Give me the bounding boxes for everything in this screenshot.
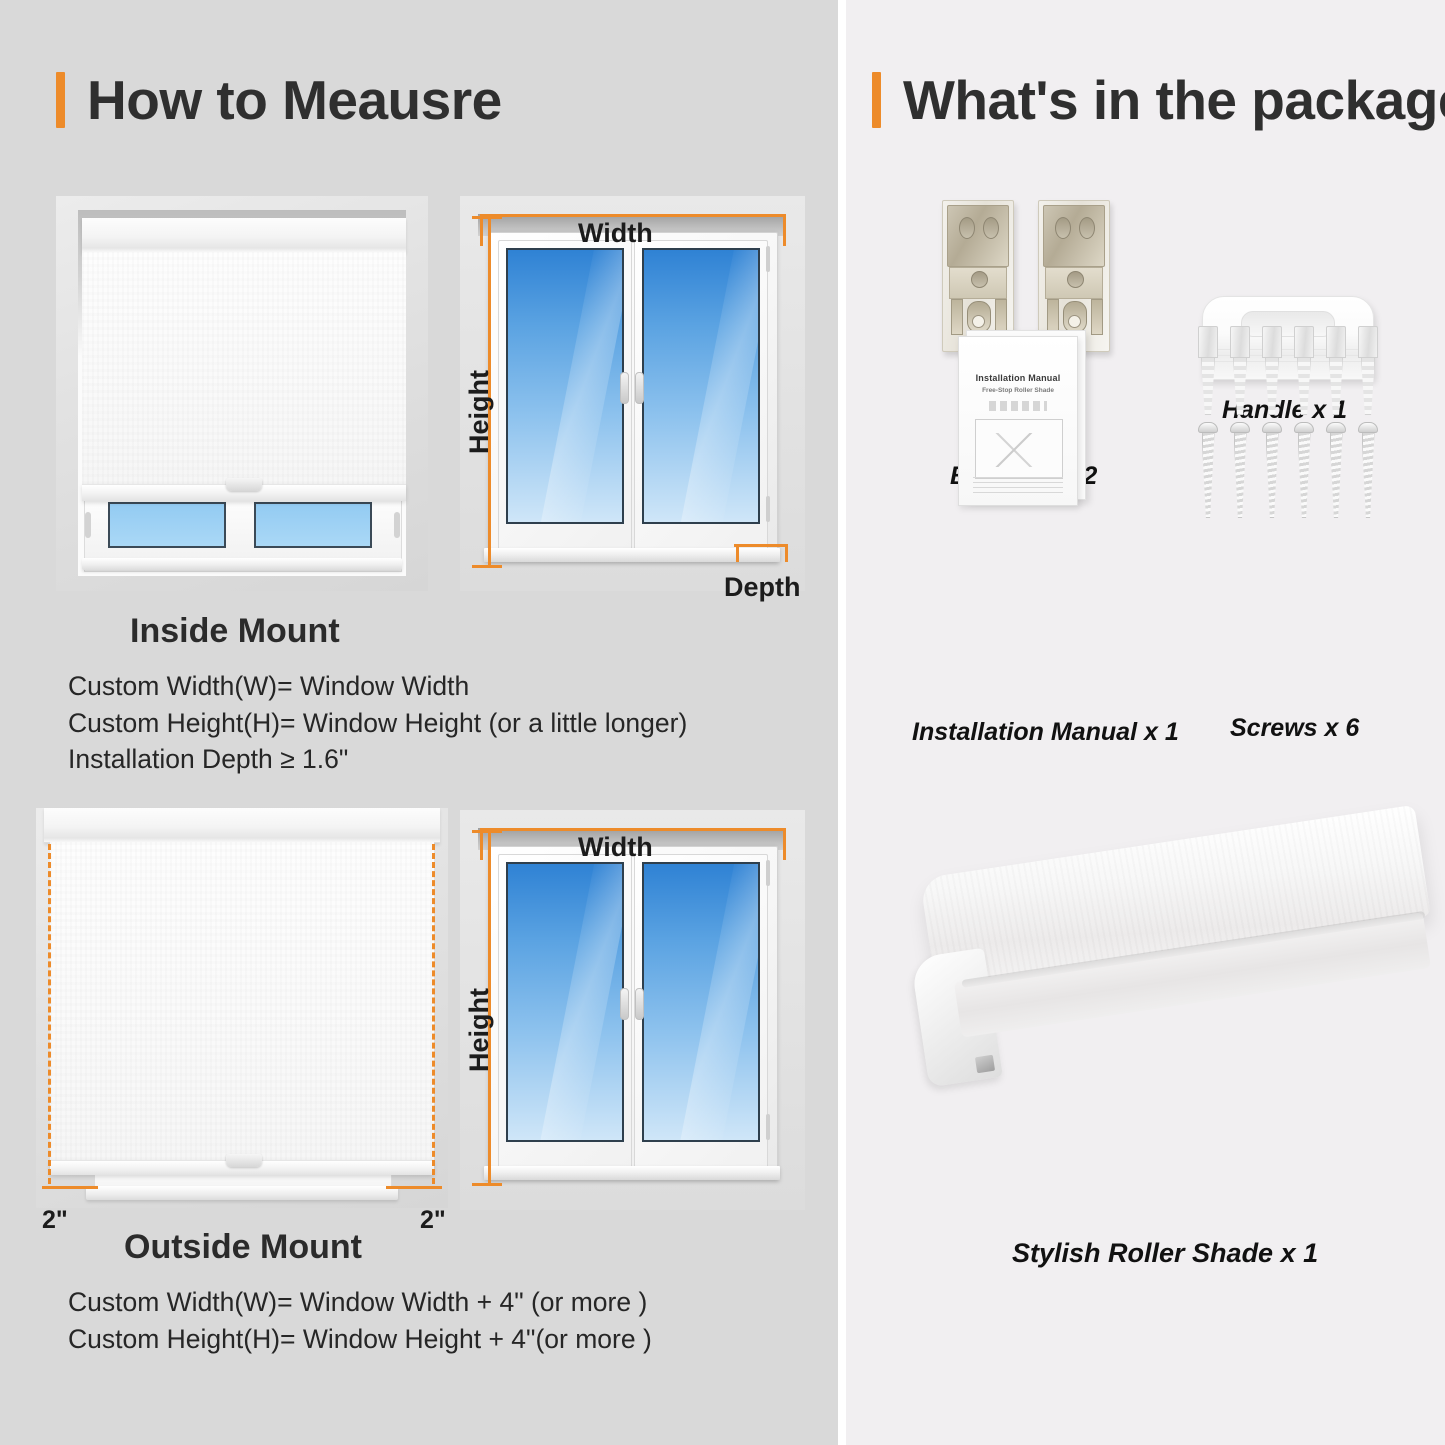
wall-anchor-icon-1 <box>1198 326 1216 415</box>
width-label: Width <box>578 218 653 249</box>
glass-reflection <box>672 862 760 1142</box>
height-tick-bottom <box>472 1183 502 1186</box>
screw-head <box>1262 422 1282 433</box>
screw-icon-1 <box>1198 422 1216 518</box>
window-handle-left <box>85 512 91 538</box>
window-glass-left <box>108 502 226 548</box>
bracket-hole-b <box>983 217 999 239</box>
manual-cover-title: Installation Manual <box>959 373 1077 383</box>
manual-cover-marks <box>989 401 1047 411</box>
height-label: Height <box>464 988 495 1072</box>
width-label: Width <box>578 832 653 863</box>
wall-anchor-icon-5 <box>1326 326 1344 415</box>
shade-fabric <box>50 842 434 1160</box>
how-to-measure-heading: How to Meausre <box>56 72 502 128</box>
bracket-top-plate <box>1043 205 1105 267</box>
overhang-label-right: 2" <box>420 1206 446 1235</box>
width-tick-right <box>783 828 786 860</box>
anchor-body <box>1329 358 1343 415</box>
overhang-label-left: 2" <box>42 1206 68 1235</box>
outside-mount-window-diagram: Width Height <box>460 810 805 1210</box>
inside-mount-specs: Custom Width(W)= Window Width Custom Hei… <box>68 668 687 778</box>
window-handle-right <box>394 512 400 538</box>
window-lock-bottom <box>766 496 770 522</box>
depth-tick-inner <box>736 544 739 562</box>
accent-bar-icon <box>872 72 881 128</box>
wall-anchor-icon-3 <box>1262 326 1280 415</box>
package-heading: What's in the package <box>872 72 1445 128</box>
anchor-head <box>1326 326 1346 358</box>
screw-icon-4 <box>1294 422 1312 518</box>
anchor-head <box>1358 326 1378 358</box>
height-tick-top <box>472 216 502 219</box>
infographic-canvas: How to Meausre <box>0 0 1445 1445</box>
inside-mount-line-2: Custom Height(H)= Window Height (or a li… <box>68 705 687 742</box>
package-title: What's in the package <box>903 73 1445 128</box>
window-glass-left <box>506 862 624 1142</box>
bracket-hole-a <box>959 217 975 239</box>
anchor-head <box>1230 326 1250 358</box>
outside-mount-shade-illustration <box>36 808 448 1208</box>
overhang-guide-left <box>48 844 51 1184</box>
bracket-keyhole-dot <box>1068 315 1081 328</box>
shade-pull-grip <box>226 478 262 491</box>
anchor-body <box>1297 358 1311 415</box>
screw-icon-3 <box>1262 422 1280 518</box>
bracket-top-plate <box>947 205 1009 267</box>
window-glass-left <box>506 248 624 524</box>
window-sill <box>484 1166 780 1180</box>
sash-handle-left <box>620 988 629 1020</box>
screw-head <box>1358 422 1378 433</box>
width-tick-right <box>783 214 786 246</box>
outside-mount-title: Outside Mount <box>124 1228 362 1267</box>
height-label: Height <box>464 370 495 454</box>
bracket-hole-a <box>1055 217 1071 239</box>
screw-icon-5 <box>1326 422 1344 518</box>
screw-head <box>1230 422 1250 433</box>
bracket-hole-b <box>1079 217 1095 239</box>
roller-shade-label: Stylish Roller Shade x 1 <box>1012 1238 1318 1269</box>
height-tick-bottom <box>472 565 502 568</box>
glass-reflection <box>532 862 624 1142</box>
window-lock-bottom <box>766 1114 770 1140</box>
accent-bar-icon <box>56 72 65 128</box>
screw-icon-2 <box>1230 422 1248 518</box>
manual-icon: Installation Manual Free-Stop Roller Sha… <box>958 336 1078 506</box>
anchor-body <box>1361 358 1375 415</box>
window-lock-top <box>766 246 770 272</box>
manual-cover-subtitle: Free-Stop Roller Shade <box>959 387 1077 394</box>
window-lock-top <box>766 860 770 886</box>
window-sill <box>86 1186 398 1200</box>
anchor-body <box>1233 358 1247 415</box>
manual-label: Installation Manual x 1 <box>912 718 1179 747</box>
shade-cassette <box>82 218 406 253</box>
panel-divider <box>838 0 846 1445</box>
depth-label: Depth <box>724 572 801 603</box>
sash-handle-left <box>620 372 629 404</box>
anchor-body <box>1265 358 1279 415</box>
screw-shaft <box>1330 433 1343 518</box>
inside-mount-line-3: Installation Depth ≥ 1.6" <box>68 741 687 778</box>
window-glass-right <box>254 502 372 548</box>
how-to-measure-title: How to Meausre <box>87 73 502 128</box>
screws-item <box>1194 326 1404 516</box>
depth-tick-outer <box>785 544 788 562</box>
shade-fabric <box>82 252 406 484</box>
manual-cover-footer-lines <box>973 477 1063 493</box>
height-tick-top <box>472 830 502 833</box>
bracket-hole-c <box>1067 271 1084 288</box>
screw-shaft <box>1266 433 1279 518</box>
screw-head <box>1198 422 1218 433</box>
wall-anchor-icon-2 <box>1230 326 1248 415</box>
window-glass-right <box>642 862 760 1142</box>
outside-mount-line-2: Custom Height(H)= Window Height + 4"(or … <box>68 1321 652 1358</box>
anchor-head <box>1262 326 1282 358</box>
screw-head <box>1326 422 1346 433</box>
shade-cassette <box>44 808 440 843</box>
sash-handle-right <box>635 372 644 404</box>
screw-shaft <box>1362 433 1375 518</box>
bracket-keyhole-dot <box>972 315 985 328</box>
roller-shade-illustration <box>892 870 1432 1200</box>
outside-mount-line-1: Custom Width(W)= Window Width + 4" (or m… <box>68 1284 652 1321</box>
inside-mount-title: Inside Mount <box>130 612 340 651</box>
glass-reflection <box>533 248 624 524</box>
screw-icon-6 <box>1358 422 1376 518</box>
window-glass-right <box>642 248 760 524</box>
wall-anchor-icon-6 <box>1358 326 1376 415</box>
inside-mount-shade-illustration <box>56 196 428 591</box>
width-measure-line <box>480 214 786 217</box>
window-sill <box>82 558 402 570</box>
sash-handle-right <box>635 988 644 1020</box>
screw-shaft <box>1298 433 1311 518</box>
manual-cover-sketch <box>995 433 1035 467</box>
anchor-head <box>1294 326 1314 358</box>
glass-reflection <box>673 248 760 524</box>
overhang-arrow-left <box>42 1186 98 1189</box>
inside-mount-line-1: Custom Width(W)= Window Width <box>68 668 687 705</box>
wall-anchor-icon-4 <box>1294 326 1312 415</box>
overhang-guide-right <box>432 844 435 1184</box>
screw-shaft <box>1234 433 1247 518</box>
depth-measure-line <box>734 544 788 547</box>
bracket-hole-c <box>971 271 988 288</box>
screw-head <box>1294 422 1314 433</box>
anchor-head <box>1198 326 1218 358</box>
screw-shaft <box>1202 433 1215 518</box>
screws-label: Screws x 6 <box>1230 714 1359 743</box>
shade-pull-grip <box>226 1154 262 1167</box>
package-contents-panel: What's in the package <box>846 0 1445 1445</box>
width-measure-line <box>480 828 786 831</box>
anchor-body <box>1201 358 1215 415</box>
how-to-measure-panel: How to Meausre <box>0 0 838 1445</box>
manual-item: Installation Manual Free-Stop Roller Sha… <box>952 330 1132 520</box>
outside-mount-specs: Custom Width(W)= Window Width + 4" (or m… <box>68 1284 652 1357</box>
overhang-arrow-right <box>386 1186 442 1189</box>
roller-shade-metal-tip <box>975 1055 995 1073</box>
inside-mount-window-diagram: Width Height Depth <box>460 196 805 591</box>
